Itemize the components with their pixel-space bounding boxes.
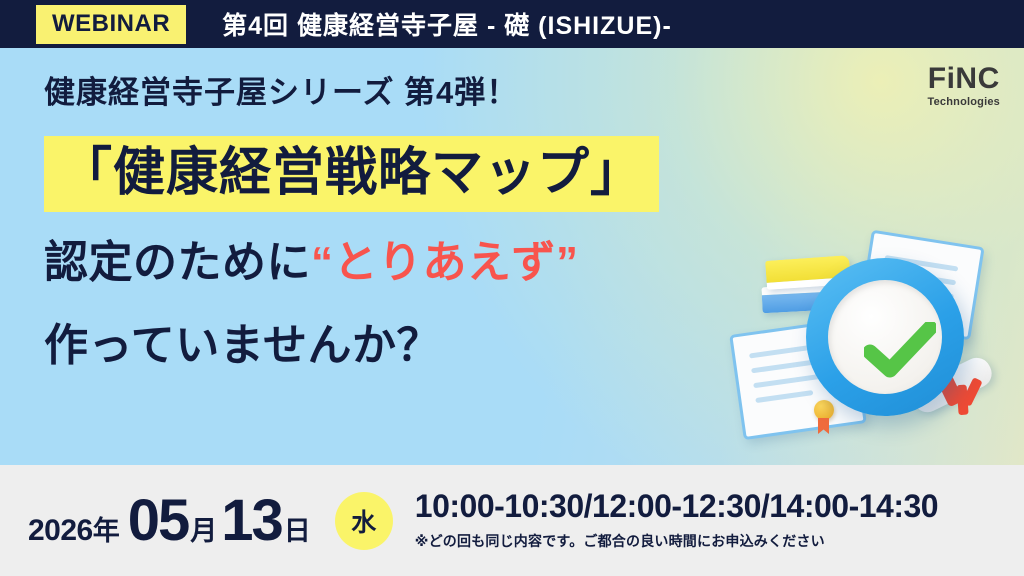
webinar-badge: WEBINAR <box>36 5 186 44</box>
lede-accent: “とりあえず” <box>311 238 579 287</box>
main-panel: FiNC Technologies 健康経営寺子屋シリーズ 第4弾！ 「健康経営… <box>0 48 1024 465</box>
lede-line-1: 認定のために“とりあえず” <box>44 232 804 294</box>
header-bar: WEBINAR 第4回 健康経営寺子屋 - 礎 (ISHIZUE)- <box>0 0 1024 48</box>
lede-line-2: 作っていませんか？ <box>44 315 804 377</box>
date-day: 13 <box>221 492 282 550</box>
certification-illustration <box>714 230 1024 465</box>
webinar-banner: WEBINAR 第4回 健康経営寺子屋 - 礎 (ISHIZUE)- FiNC … <box>0 0 1024 576</box>
session-times: 10:00-10:30/12:00-12:30/14:00-14:30 <box>415 490 938 524</box>
seal-ribbon-icon <box>818 418 829 434</box>
gold-seal-icon <box>814 400 834 420</box>
day-of-week-badge: 水 <box>335 492 393 550</box>
header-title: 第4回 健康経営寺子屋 - 礎 (ISHIZUE)- <box>222 6 672 42</box>
finc-logo: FiNC Technologies <box>928 64 1000 108</box>
date-day-unit: 日 <box>284 509 311 548</box>
date-year-unit: 年 <box>93 509 120 548</box>
copy-block: 健康経営寺子屋シリーズ 第4弾！ 「健康経営戦略マップ」 認定のために“とりあえ… <box>44 76 804 377</box>
lede-prefix: 認定のために <box>44 238 311 287</box>
headline: 「健康経営戦略マップ」 <box>44 136 659 212</box>
headline-wrap: 「健康経営戦略マップ」 <box>44 136 804 212</box>
checkmark-icon <box>864 322 936 378</box>
check-badge-inner <box>828 280 942 394</box>
time-block: 10:00-10:30/12:00-12:30/14:00-14:30 ※どの回… <box>415 490 938 551</box>
logo-wordmark: FiNC <box>928 64 1000 94</box>
session-note: ※どの回も同じ内容です。ご都合の良い時間にお申込みください <box>415 531 938 551</box>
check-badge-icon <box>806 258 964 416</box>
date-year: 2026 <box>28 514 93 548</box>
logo-tagline: Technologies <box>928 97 1000 108</box>
footer-bar: 2026 年 05 月 13 日 水 10:00-10:30/12:00-12:… <box>0 465 1024 576</box>
event-date: 2026 年 05 月 13 日 <box>28 492 315 550</box>
series-kicker: 健康経営寺子屋シリーズ 第4弾！ <box>44 76 804 110</box>
date-month: 05 <box>128 492 189 550</box>
date-month-unit: 月 <box>190 509 217 548</box>
